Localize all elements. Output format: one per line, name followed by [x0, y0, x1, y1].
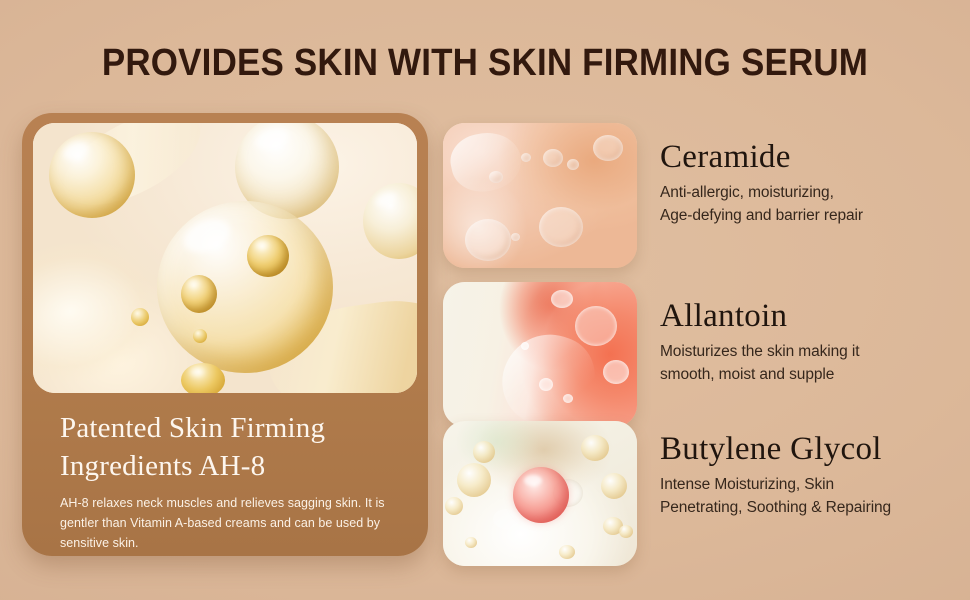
ingredient-text-ceramide: Ceramide Anti-allergic, moisturizing, Ag… — [660, 137, 953, 227]
oil-droplet-e — [181, 363, 225, 393]
hero-image — [33, 123, 417, 393]
ingredient-description-line: Intense Moisturizing, Skin — [660, 473, 953, 496]
ingredient-row-ceramide: Ceramide Anti-allergic, moisturizing, Ag… — [443, 123, 953, 268]
feature-card: Patented Skin Firming Ingredients AH-8 A… — [22, 113, 428, 556]
infographic-page: PROVIDES SKIN WITH SKIN FIRMING SERUM Pa… — [0, 0, 970, 600]
ingredient-text-butylene-glycol: Butylene Glycol Intense Moisturizing, Sk… — [660, 429, 953, 519]
ingredient-row-allantoin: Allantoin Moisturizes the skin making it… — [443, 282, 953, 427]
cream-bubble — [581, 435, 609, 461]
ingredient-description-line: Penetrating, Soothing & Repairing — [660, 496, 953, 519]
cream-bubble — [473, 441, 495, 463]
ingredient-description: Moisturizes the skin making it smooth, m… — [660, 340, 953, 386]
ingredient-name: Allantoin — [660, 296, 953, 336]
cream-bubble — [465, 537, 477, 548]
serum-bubble — [521, 342, 529, 350]
cream-bubble — [619, 525, 633, 538]
feature-card-body: AH-8 relaxes neck muscles and relieves s… — [60, 493, 422, 553]
ingredient-row-butylene-glycol: Butylene Glycol Intense Moisturizing, Sk… — [443, 421, 953, 566]
gel-bubble — [465, 219, 511, 261]
oil-droplet-b — [181, 275, 217, 313]
cream-bubble — [601, 473, 627, 499]
ingredient-thumbnail-ceramide — [443, 123, 637, 268]
ingredient-description-line: Moisturizes the skin making it — [660, 340, 953, 363]
gel-bubble — [511, 233, 520, 241]
oil-droplet-c — [131, 308, 149, 326]
gel-bubble — [539, 207, 583, 247]
ingredient-name: Butylene Glycol — [660, 429, 953, 469]
page-title: PROVIDES SKIN WITH SKIN FIRMING SERUM — [39, 41, 931, 85]
gel-bubble — [593, 135, 623, 161]
cream-bubble — [445, 497, 463, 515]
ingredient-name: Ceramide — [660, 137, 953, 177]
gel-bubble — [521, 153, 531, 162]
serum-bubble — [551, 290, 573, 308]
cream-bubble — [559, 545, 575, 559]
ingredient-description-line: Age-defying and barrier repair — [660, 204, 953, 227]
ingredient-thumbnail-allantoin — [443, 282, 637, 427]
ingredient-description: Anti-allergic, moisturizing, Age-defying… — [660, 181, 953, 227]
serum-bubble — [539, 378, 553, 391]
pink-bubble-center — [513, 467, 569, 523]
feature-card-heading: Patented Skin Firming Ingredients AH-8 — [60, 409, 400, 485]
gel-bubble — [567, 159, 579, 170]
ingredient-description-line: Anti-allergic, moisturizing, — [660, 181, 953, 204]
ingredient-description: Intense Moisturizing, Skin Penetrating, … — [660, 473, 953, 519]
oil-droplet-d — [193, 329, 207, 343]
serum-bubble — [603, 360, 629, 384]
cream-bubble — [457, 463, 491, 497]
serum-bubble — [575, 306, 617, 346]
clear-bubble — [493, 509, 519, 529]
ingredient-description-line: smooth, moist and supple — [660, 363, 953, 386]
oil-droplet-a — [247, 235, 289, 277]
gel-bubble — [489, 171, 503, 183]
ingredient-thumbnail-butylene-glycol — [443, 421, 637, 566]
serum-bubble — [563, 394, 573, 403]
oil-bubble-top-left — [49, 132, 135, 218]
gel-bubble — [543, 149, 563, 167]
ingredient-text-allantoin: Allantoin Moisturizes the skin making it… — [660, 296, 953, 386]
